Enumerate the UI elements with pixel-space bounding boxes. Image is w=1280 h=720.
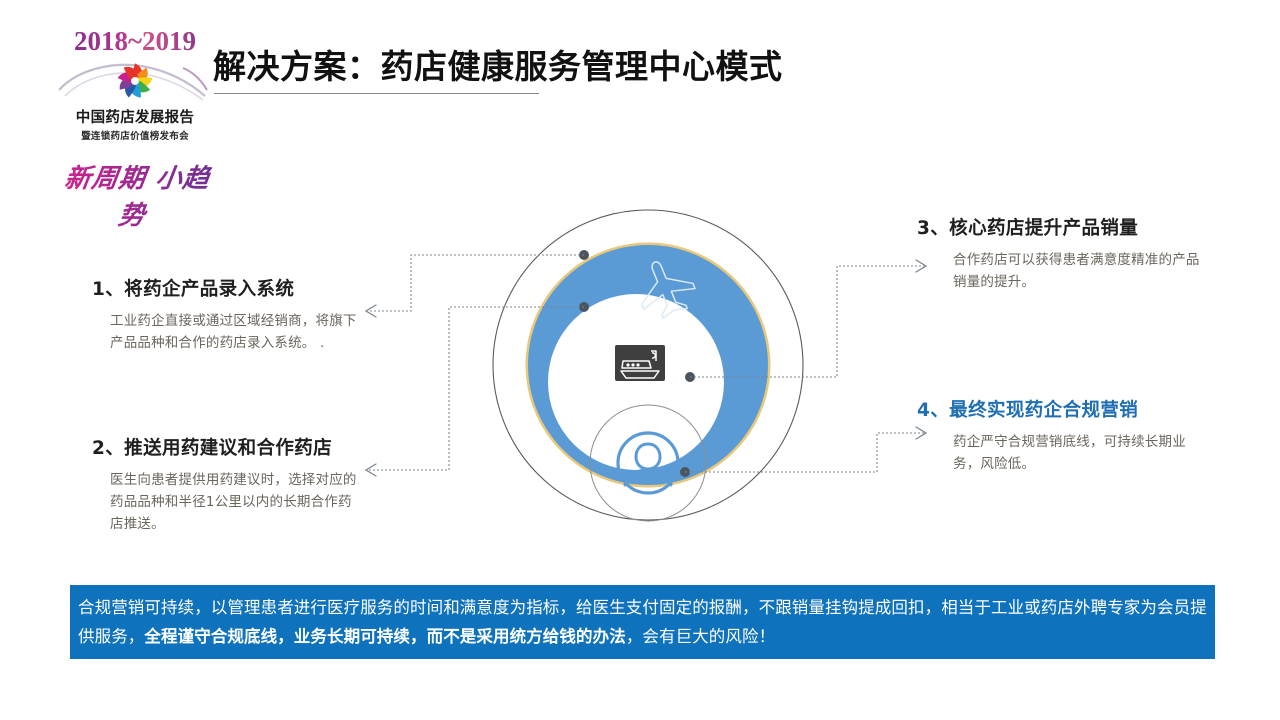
connector-node-2	[579, 302, 589, 312]
page-title: 解决方案：药店健康服务管理中心模式	[213, 40, 783, 88]
arrowhead-1	[366, 305, 376, 317]
colored-swirl-icon	[113, 59, 157, 103]
summary-banner: 合规营销可持续，以管理患者进行医疗服务的时间和满意度为指标，给医生支付固定的报酬…	[70, 585, 1215, 659]
ship-icon	[615, 345, 665, 381]
step-4-heading: 4、最终实现药企合规营销	[917, 396, 1207, 422]
logo-graphic	[55, 58, 215, 104]
banner-text-bold: 全程谨守合规底线，业务长期可持续，而不是采用统方给钱的办法	[144, 627, 625, 646]
step-3-body: 合作药店可以获得患者满意度精准的产品销量的提升。	[953, 249, 1207, 293]
step-4-body: 药企严守合规营销底线，可持续长期业务，风险低。	[953, 431, 1207, 475]
step-2-body: 医生向患者提供用药建议时，选择对应的药品品种和半径1公里以内的长期合作药店推送。	[110, 469, 362, 535]
conference-logo: 2018~2019	[55, 26, 215, 201]
step-2-heading: 2、推送用药建议和合作药店	[92, 434, 362, 460]
logo-slogan-text: 新周期 小趋势	[50, 158, 220, 232]
step-block-3: 3、核心药店提升产品销量 合作药店可以获得患者满意度精准的产品销量的提升。	[917, 214, 1207, 293]
concentric-circles-diagram	[440, 190, 860, 550]
step-block-4: 4、最终实现药企合规营销 药企严守合规营销底线，可持续长期业务，风险低。	[917, 396, 1207, 475]
banner-text-part2: ，会有巨大的风险！	[626, 627, 775, 646]
logo-year-text: 2018~2019	[55, 26, 215, 56]
step-block-1: 1、将药企产品录入系统 工业药企直接或通过区域经销商，将旗下产品品种和合作的药店…	[92, 275, 362, 354]
logo-name-text: 中国药店发展报告	[55, 106, 215, 127]
inner-white-disc	[548, 294, 724, 470]
slide-canvas: 2018~2019	[0, 0, 1280, 720]
connector-node-4	[680, 467, 690, 477]
step-1-heading: 1、将药企产品录入系统	[92, 275, 362, 301]
connector-node-3	[685, 372, 695, 382]
step-1-body: 工业药企直接或通过区域经销商，将旗下产品品种和合作的药店录入系统。 .	[110, 310, 362, 354]
arrowhead-2	[366, 464, 376, 476]
title-underline	[214, 93, 539, 94]
step-block-2: 2、推送用药建议和合作药店 医生向患者提供用药建议时，选择对应的药品品种和半径1…	[92, 434, 362, 535]
banner-paragraph: 合规营销可持续，以管理患者进行医疗服务的时间和满意度为指标，给医生支付固定的报酬…	[78, 593, 1209, 651]
logo-subtitle-text: 暨连锁药店价值榜发布会	[55, 128, 215, 142]
connector-node-1	[579, 250, 589, 260]
step-3-heading: 3、核心药店提升产品销量	[917, 214, 1207, 240]
